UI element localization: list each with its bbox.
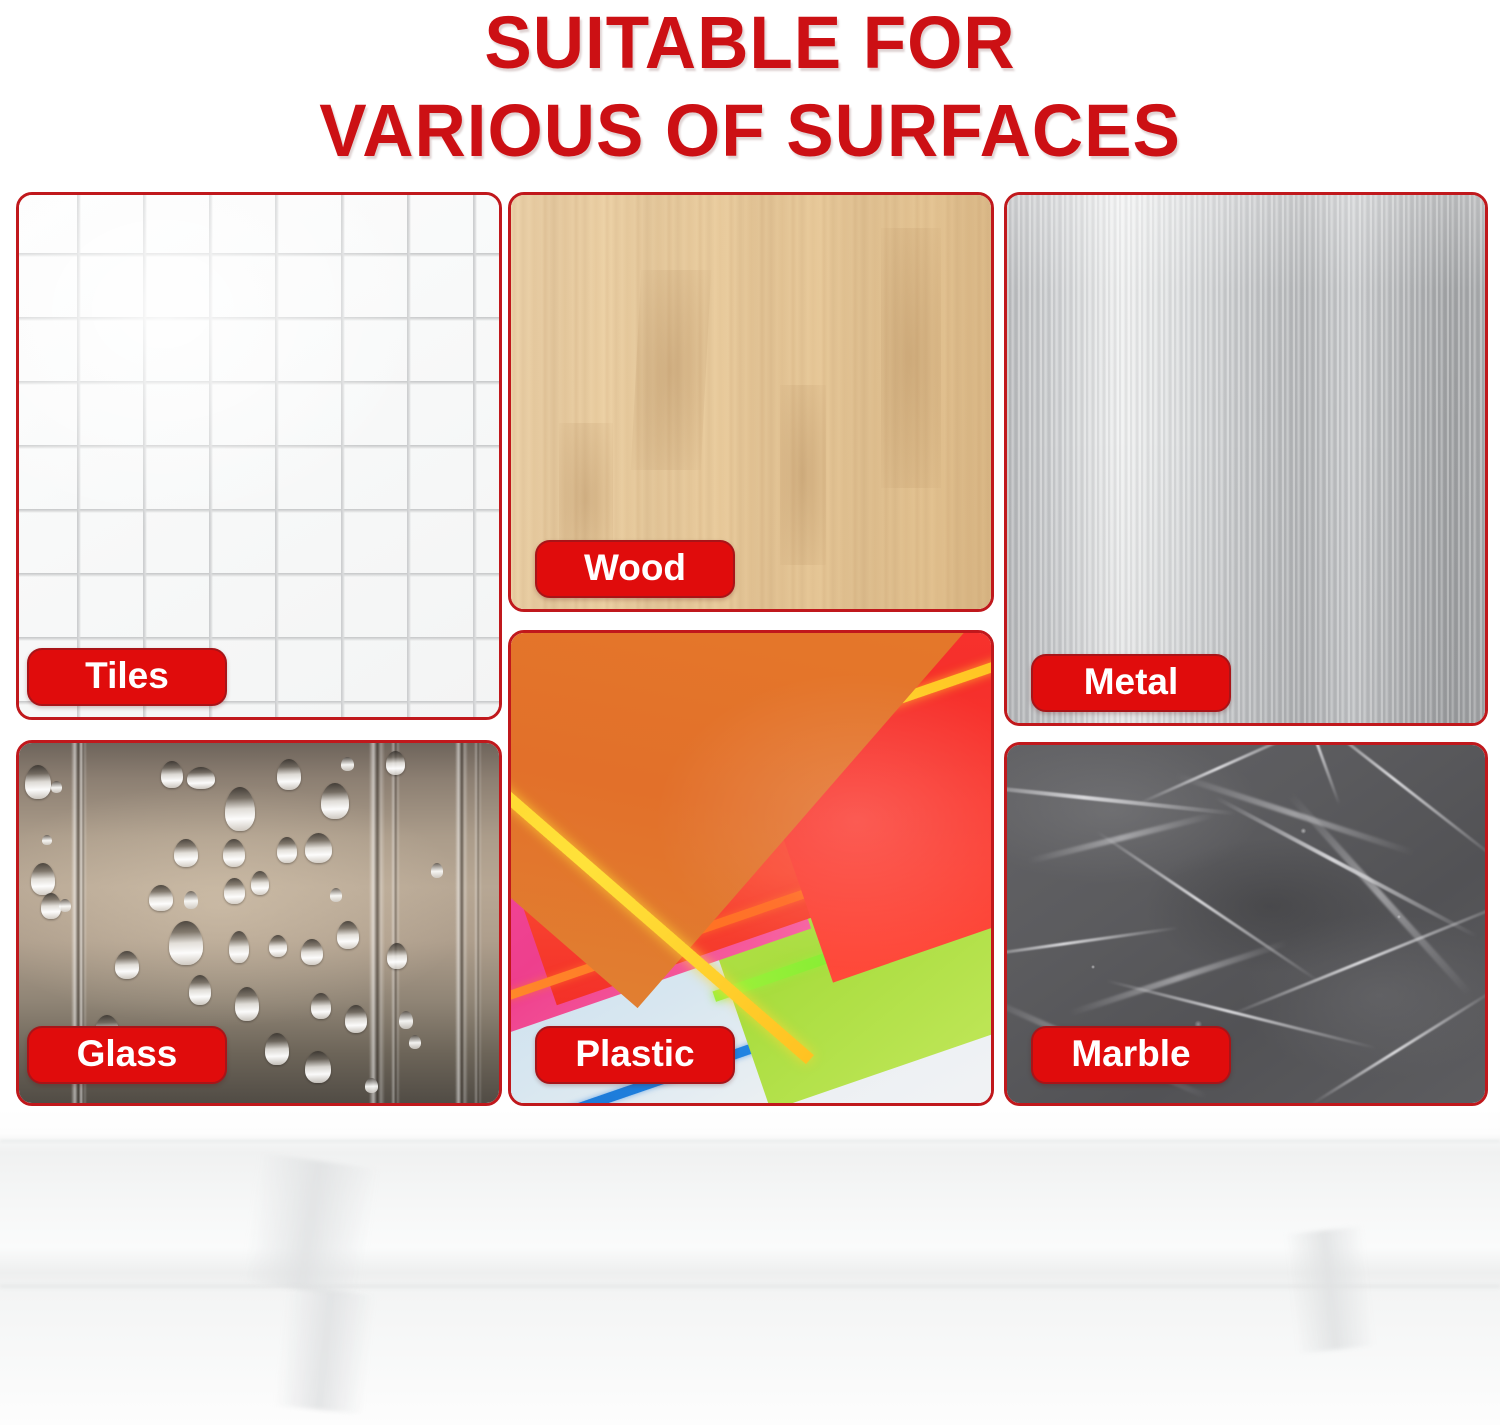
surface-label-metal: Metal bbox=[1031, 654, 1231, 712]
water-droplet bbox=[337, 921, 359, 949]
water-droplet bbox=[277, 837, 297, 863]
water-droplet bbox=[59, 899, 71, 912]
surface-label-plastic: Plastic bbox=[535, 1026, 735, 1084]
water-droplet bbox=[174, 839, 198, 867]
water-droplet bbox=[184, 891, 198, 909]
surface-card-metal bbox=[1004, 192, 1488, 726]
water-droplet bbox=[42, 835, 52, 845]
water-droplet bbox=[225, 787, 255, 831]
surface-label-marble: Marble bbox=[1031, 1026, 1231, 1084]
surface-label-wood: Wood bbox=[535, 540, 735, 598]
water-streak bbox=[369, 740, 385, 1106]
water-droplet bbox=[341, 757, 354, 771]
surface-label-glass: Glass bbox=[27, 1026, 227, 1084]
water-droplet bbox=[189, 975, 211, 1005]
wood-grain-streak bbox=[780, 385, 826, 565]
bottom-surface-crease bbox=[242, 1152, 379, 1297]
water-droplet bbox=[330, 888, 342, 902]
surface-card-tiles bbox=[16, 192, 502, 720]
water-droplet bbox=[161, 761, 183, 788]
water-droplet bbox=[305, 1051, 331, 1083]
water-droplet bbox=[305, 833, 332, 863]
water-droplet bbox=[41, 893, 61, 919]
water-streak bbox=[391, 740, 400, 1106]
water-streak bbox=[474, 740, 482, 1106]
water-droplet bbox=[223, 839, 245, 867]
water-droplet bbox=[25, 765, 51, 799]
water-droplet bbox=[51, 781, 62, 793]
water-droplet bbox=[31, 863, 55, 895]
bottom-surface-crease bbox=[274, 1286, 376, 1415]
water-droplet bbox=[251, 871, 269, 895]
water-droplet bbox=[431, 863, 443, 878]
water-droplet bbox=[269, 935, 287, 957]
bottom-surface-lower-edge bbox=[0, 1285, 1500, 1289]
water-droplet bbox=[235, 987, 259, 1021]
water-droplet bbox=[149, 885, 173, 911]
water-droplet bbox=[224, 878, 245, 904]
infographic-page: SUITABLE FOR VARIOUS OF SURFACES Tiles W… bbox=[0, 0, 1500, 1425]
water-droplet bbox=[365, 1078, 378, 1093]
water-streak bbox=[455, 740, 468, 1106]
water-droplet bbox=[386, 751, 405, 775]
page-title-line-1: SUITABLE FOR bbox=[30, 6, 1470, 80]
metal-gloss-overlay bbox=[1007, 195, 1485, 723]
water-droplet bbox=[187, 767, 215, 789]
water-droplet bbox=[301, 939, 323, 965]
tiles-sheen-overlay bbox=[19, 195, 499, 717]
water-droplet bbox=[409, 1035, 421, 1049]
water-droplet bbox=[115, 951, 139, 979]
wood-grain-streak bbox=[631, 270, 711, 470]
page-title: SUITABLE FOR VARIOUS OF SURFACES bbox=[0, 2, 1500, 168]
water-droplet bbox=[229, 931, 249, 963]
water-droplet bbox=[277, 759, 301, 790]
bottom-surface-upper-edge bbox=[0, 1140, 1500, 1143]
water-droplet bbox=[265, 1033, 289, 1065]
water-droplet bbox=[387, 943, 407, 969]
bottom-surface-crease bbox=[1284, 1226, 1376, 1354]
page-title-line-2: VARIOUS OF SURFACES bbox=[30, 94, 1470, 168]
water-droplet bbox=[169, 921, 203, 965]
bottom-product-surface bbox=[0, 1108, 1500, 1425]
water-droplet bbox=[399, 1011, 413, 1029]
water-droplet bbox=[311, 993, 331, 1019]
water-droplet bbox=[321, 783, 349, 819]
surface-label-tiles: Tiles bbox=[27, 648, 227, 706]
water-droplet bbox=[345, 1005, 367, 1033]
wood-grain-streak bbox=[881, 228, 941, 488]
